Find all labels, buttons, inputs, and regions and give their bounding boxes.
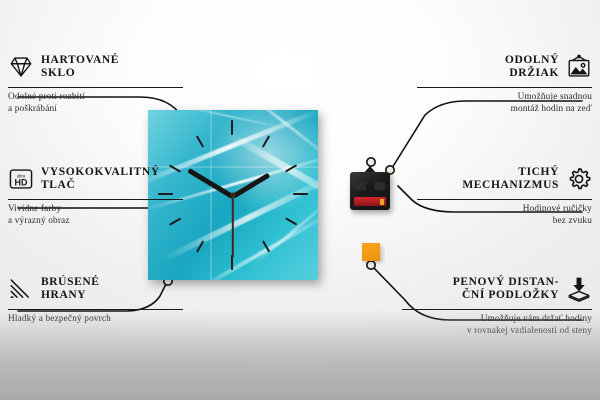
clock-tick-4 xyxy=(285,217,297,225)
feature-header: BRÚSENÉHRANY xyxy=(8,272,183,306)
clock-mechanism xyxy=(350,172,390,210)
diamond-icon xyxy=(8,54,34,80)
foam-pad xyxy=(362,243,380,261)
feature-header: ultra HD VYSOKOKVALITNÝTLAČ xyxy=(8,162,183,196)
mechanism-battery xyxy=(354,197,386,206)
picture-frame-hanger-icon xyxy=(566,54,592,80)
product-infographic: HARTOVANÉSKLO Odolné proti rozbitía pošk… xyxy=(0,0,600,400)
feature-description: Vivídne farbya výrazný obraz xyxy=(8,204,183,227)
clock-tick-11 xyxy=(196,135,204,147)
feature-description: Odolné proti rozbitía poškrábání xyxy=(8,92,183,115)
feature-title: TICHÝMECHANIZMUS xyxy=(417,166,559,193)
feature-header: PENOVÝ DISTAN-ČNÍ PODLOŽKY xyxy=(402,272,592,306)
feature-title: PENOVÝ DISTAN-ČNÍ PODLOŽKY xyxy=(402,276,559,303)
gear-icon xyxy=(566,166,592,192)
feature-title: BRÚSENÉHRANY xyxy=(41,276,183,303)
polished-edges-icon xyxy=(8,276,34,302)
feature-divider xyxy=(8,199,183,200)
feature-divider xyxy=(417,87,592,88)
feature-block-foam-spacers: PENOVÝ DISTAN-ČNÍ PODLOŽKY Umožňuje vám … xyxy=(402,272,592,337)
feature-header: TICHÝMECHANIZMUS xyxy=(417,162,592,196)
feature-description: Umožňuje vám držať hodinyv rovnakej vzdi… xyxy=(402,314,592,337)
feature-header: ODOLNÝDRŽIAK xyxy=(417,50,592,84)
feature-title: VYSOKOKVALITNÝTLAČ xyxy=(41,166,183,193)
foam-spacer-icon xyxy=(566,276,592,302)
clock-hub xyxy=(231,193,236,198)
feature-description: Umožňuje snadnoumontáž hodin na zeď xyxy=(417,92,592,115)
mechanism-body xyxy=(350,172,390,210)
ultra-hd-icon: ultra HD xyxy=(8,166,34,192)
battery-terminal xyxy=(380,199,384,205)
feature-block-hd-print: ultra HD VYSOKOKVALITNÝTLAČ Vivídne farb… xyxy=(8,162,183,227)
feature-divider xyxy=(417,199,592,200)
feature-divider xyxy=(8,87,183,88)
feature-description: Hladký a bezpečný povrch xyxy=(8,314,183,326)
svg-text:HD: HD xyxy=(15,178,28,188)
feature-block-holder: ODOLNÝDRŽIAK Umožňuje snadnoumontáž hodi… xyxy=(417,50,592,115)
feature-block-tempered-glass: HARTOVANÉSKLO Odolné proti rozbitía pošk… xyxy=(8,50,183,115)
clock-tick-1 xyxy=(262,135,270,147)
feature-block-silent-mechanism: TICHÝMECHANIZMUS Hodinové ručičkybez zvu… xyxy=(417,162,592,227)
feature-title: HARTOVANÉSKLO xyxy=(41,54,183,81)
mechanism-slot-right xyxy=(374,182,385,190)
clock-hand-second xyxy=(232,196,234,258)
feature-divider xyxy=(402,309,592,310)
feature-block-polished-edges: BRÚSENÉHRANY Hladký a bezpečný povrch xyxy=(8,272,183,326)
feature-divider xyxy=(8,309,183,310)
feature-header: HARTOVANÉSKLO xyxy=(8,50,183,84)
feature-description: Hodinové ručičkybez zvuku xyxy=(417,204,592,227)
feature-title: ODOLNÝDRŽIAK xyxy=(417,54,559,81)
mechanism-slot-left xyxy=(355,182,366,190)
connector-dot-foam xyxy=(367,261,375,269)
connector-dot-mechanism xyxy=(367,158,375,166)
